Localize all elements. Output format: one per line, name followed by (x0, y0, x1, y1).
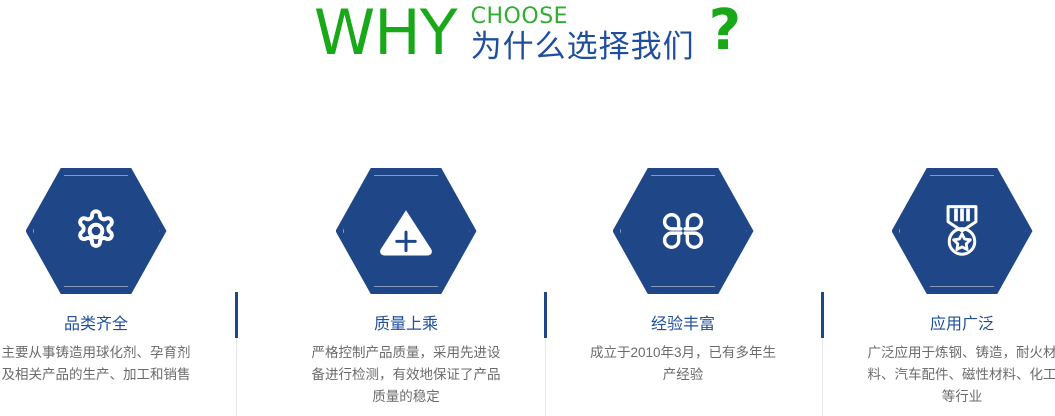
card-title: 品类齐全 (0, 314, 211, 336)
medal-star-icon (892, 168, 1033, 294)
column-divider-3 (822, 292, 823, 416)
card-title: 质量上乘 (291, 314, 521, 336)
card-body: 主要从事铸造用球化剂、孕育剂及相关产品的生产、加工和销售 (0, 342, 211, 386)
why-choose-us-section: WHY CHOOSE 为什么选择我们 ? (0, 0, 1055, 416)
card-body: 成立于2010年3月，已有多年生产经验 (568, 342, 798, 386)
triangle-plus-icon (336, 168, 477, 294)
feature-cards-row: 品类齐全 主要从事铸造用球化剂、孕育剂及相关产品的生产、加工和销售 (0, 140, 1055, 416)
question-mark: ? (709, 3, 741, 65)
section-header: WHY CHOOSE 为什么选择我们 ? (0, 0, 1055, 90)
headline-choose: CHOOSE (471, 5, 568, 29)
feature-card-2[interactable]: 质量上乘 严格控制产品质量，采用先进设备进行检测，有效地保证了产品质量的稳定 (291, 140, 521, 408)
card-body: 严格控制产品质量，采用先进设备进行检测，有效地保证了产品质量的稳定 (291, 342, 521, 408)
divider-cap-3 (821, 292, 824, 338)
gear-icon (26, 168, 167, 294)
column-divider-1 (236, 292, 237, 416)
divider-cap-2 (544, 292, 547, 338)
card-title: 应用广泛 (847, 314, 1055, 336)
hexagon-badge-2 (336, 168, 477, 294)
card-body: 广泛应用于炼钢、铸造，耐火材料、汽车配件、磁性材料、化工等行业 (847, 342, 1055, 408)
feature-card-4[interactable]: 应用广泛 广泛应用于炼钢、铸造，耐火材料、汽车配件、磁性材料、化工等行业 (847, 140, 1055, 408)
hexagon-badge-1 (26, 168, 167, 294)
headline-chinese: 为什么选择我们 (471, 29, 695, 65)
feature-card-1[interactable]: 品类齐全 主要从事铸造用球化剂、孕育剂及相关产品的生产、加工和销售 (0, 140, 211, 386)
hexagon-badge-4 (892, 168, 1033, 294)
feature-card-3[interactable]: 经验丰富 成立于2010年3月，已有多年生产经验 (568, 140, 798, 386)
column-divider-2 (545, 292, 546, 416)
card-title: 经验丰富 (568, 314, 798, 336)
divider-cap-1 (235, 292, 238, 338)
four-petal-clover-icon (613, 168, 754, 294)
hexagon-badge-3 (613, 168, 754, 294)
headline-why: WHY (314, 2, 457, 64)
